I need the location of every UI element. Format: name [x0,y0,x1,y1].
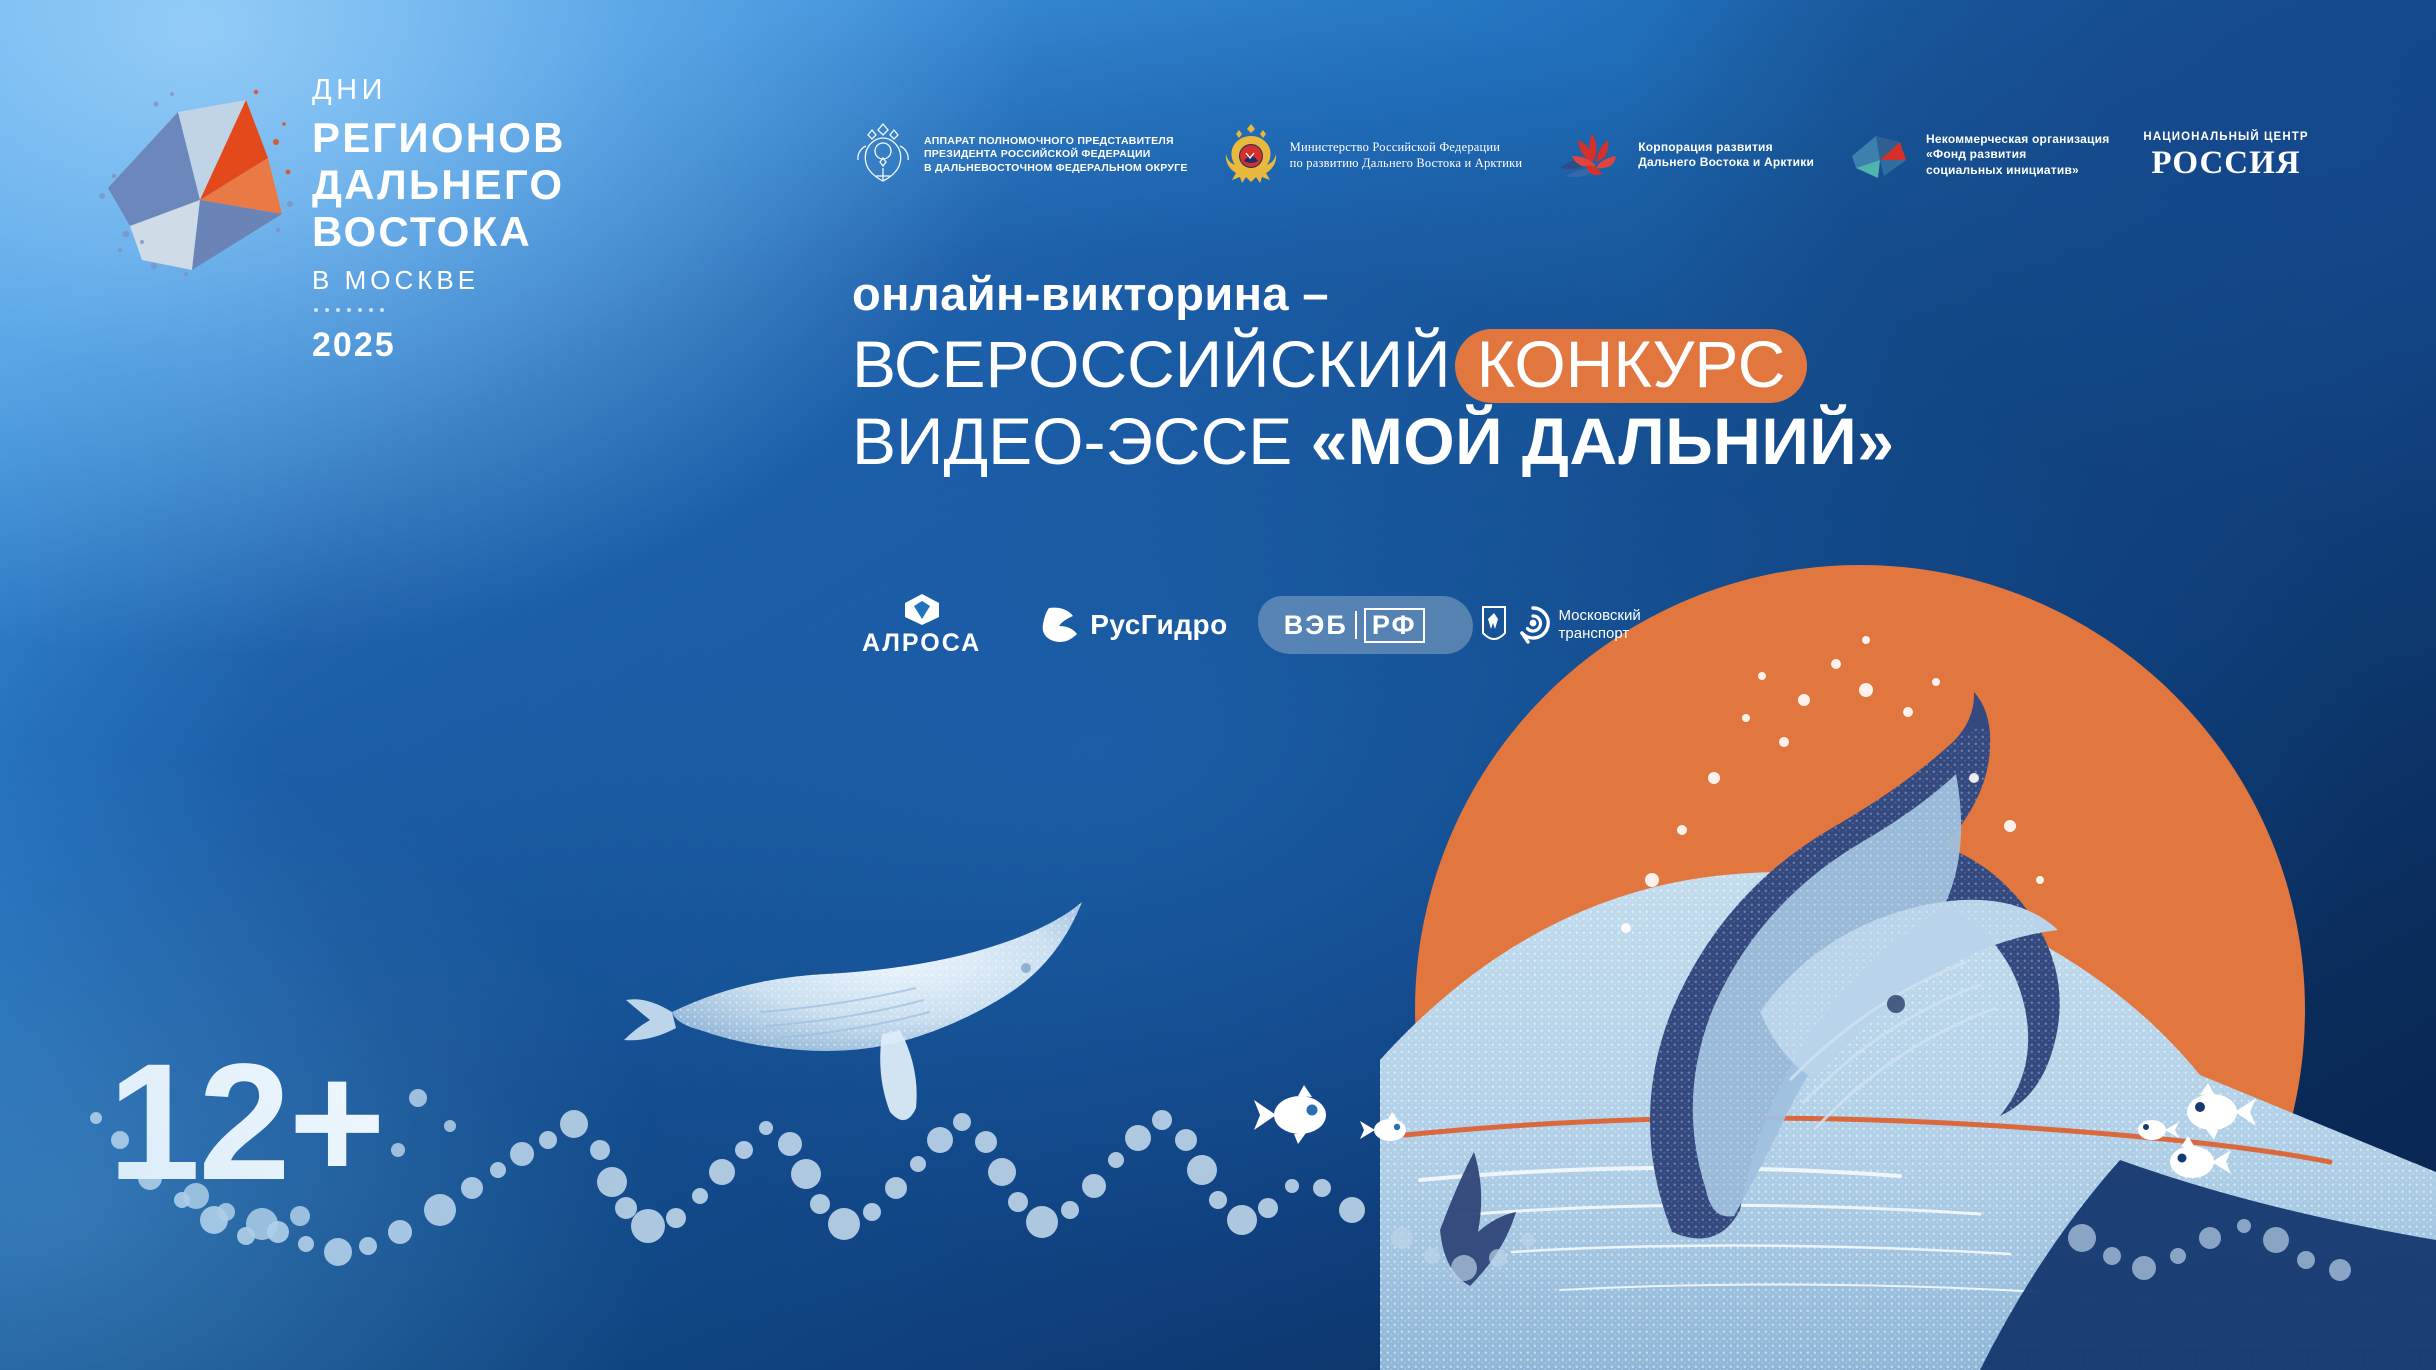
rushydro-drop-icon [1037,604,1081,646]
headline-line3-title: «МОЙ ДАЛЬНИЙ» [1311,404,1895,478]
sponsor-logo-strip: АЛРОСА РусГидро ВЭБ РФ [862,592,1641,658]
logo-line-dni: ДНИ [312,76,566,105]
partner-line: Корпорация развития [1638,140,1814,155]
russian-coat-of-arms-outline-icon [852,118,914,192]
partner-plenipotentiary: АППАРАТ ПОЛНОМОЧНОГО ПРЕДСТАВИТЕЛЯ ПРЕЗИ… [852,118,1222,192]
partner-line: социальных инициатив» [1926,163,2109,178]
swimming-humpback-whale [624,902,1082,1120]
partner-line: АППАРАТ ПОЛНОМОЧНОГО ПРЕДСТАВИТЕЛЯ [924,135,1188,148]
headline-line-3: ВИДЕО-ЭССЕ «МОЙ ДАЛЬНИЙ» [852,403,1894,480]
partner-nacionalnyy-centr-rossiya: НАЦИОНАЛЬНЫЙ ЦЕНТР РОССИЯ [2143,130,2308,180]
russia-ornament-icon: РОССИЯ [2143,146,2308,181]
alrosa-diamond-icon [899,592,945,626]
partner-fond-socialnyh-iniciativ: Некоммерческая организация «Фонд развити… [1848,126,2143,184]
sponsor-label: АЛРОСА [862,629,981,658]
sponsor-label: ВЭБ [1284,610,1348,641]
event-logo: ДНИ РЕГИОНОВ ДАЛЬНЕГО ВОСТОКА В МОСКВЕ 2… [96,76,526,296]
partner-line: Некоммерческая организация [1926,132,2109,147]
logo-line-regions: РЕГИОНОВ [312,114,566,161]
partner-logo-strip: АППАРАТ ПОЛНОМОЧНОГО ПРЕДСТАВИТЕЛЯ ПРЕЗИ… [852,118,2309,192]
partner-line: «Фонд развития [1926,147,2109,162]
sponsor-rushydro: РусГидро [1037,604,1228,646]
headline-line2-plain: ВСЕРОССИЙСКИЙ [852,327,1451,401]
headline-block: онлайн-викторина – ВСЕРОССИЙСКИЙКОНКУРС … [852,268,1894,479]
poster-canvas: ДНИ РЕГИОНОВ ДАЛЬНЕГО ВОСТОКА В МОСКВЕ 2… [0,0,2436,1370]
headline-line3-plain: ВИДЕО-ЭССЕ [852,404,1292,478]
dots-octahedron-emblem [96,84,300,274]
age-rating-badge: 12+ [108,1040,384,1206]
logo-line-city: В МОСКВЕ [312,265,566,296]
partner-line: Министерство Российской Федерации [1290,139,1523,155]
partner-line: НАЦИОНАЛЬНЫЙ ЦЕНТР [2143,130,2308,145]
partner-line: ПРЕЗИДЕНТА РОССИЙСКОЙ ФЕДЕРАЦИИ [924,148,1188,161]
headline-kicker: онлайн-викторина – [852,268,1894,320]
golden-double-eagle-icon [1222,120,1280,190]
logo-line-east: ВОСТОКА [312,208,566,255]
partner-line: В ДАЛЬНЕВОСТОЧНОМ ФЕДЕРАЛЬНОМ ОКРУГЕ [924,162,1188,175]
logo-year: 2025 [312,326,566,365]
sponsor-label-2: транспорт [1559,625,1641,643]
headline-pill-konkurs: КОНКУРС [1455,329,1808,403]
moscow-coat-of-arms-icon [1481,605,1507,645]
sponsor-label: РусГидро [1090,609,1228,641]
sponsor-veb-rf: ВЭБ РФ [1284,608,1425,643]
sponsor-label-2: РФ [1364,608,1425,643]
logo-dot-divider [314,308,566,312]
partner-line: по развитию Дальнего Востока и Арктики [1290,155,1523,171]
veb-divider [1355,611,1357,639]
partner-minvostokrazvitiya: Министерство Российской Федерации по раз… [1222,120,1557,190]
headline-line-2: ВСЕРОССИЙСКИЙКОНКУРС [852,326,1894,403]
folded-envelope-icon [1848,126,1916,184]
sponsor-alrosa: АЛРОСА [862,592,981,658]
sponsor-mostransport: Московский транспорт [1481,605,1641,645]
logo-line-far: ДАЛЬНЕГО [312,161,566,208]
red-lotus-icon [1556,126,1628,184]
sponsor-label: Московский [1559,607,1641,625]
moscow-transport-icon [1514,605,1552,645]
partner-krdv: Корпорация развития Дальнего Востока и А… [1556,126,1848,184]
partner-line: Дальнего Востока и Арктики [1638,155,1814,170]
